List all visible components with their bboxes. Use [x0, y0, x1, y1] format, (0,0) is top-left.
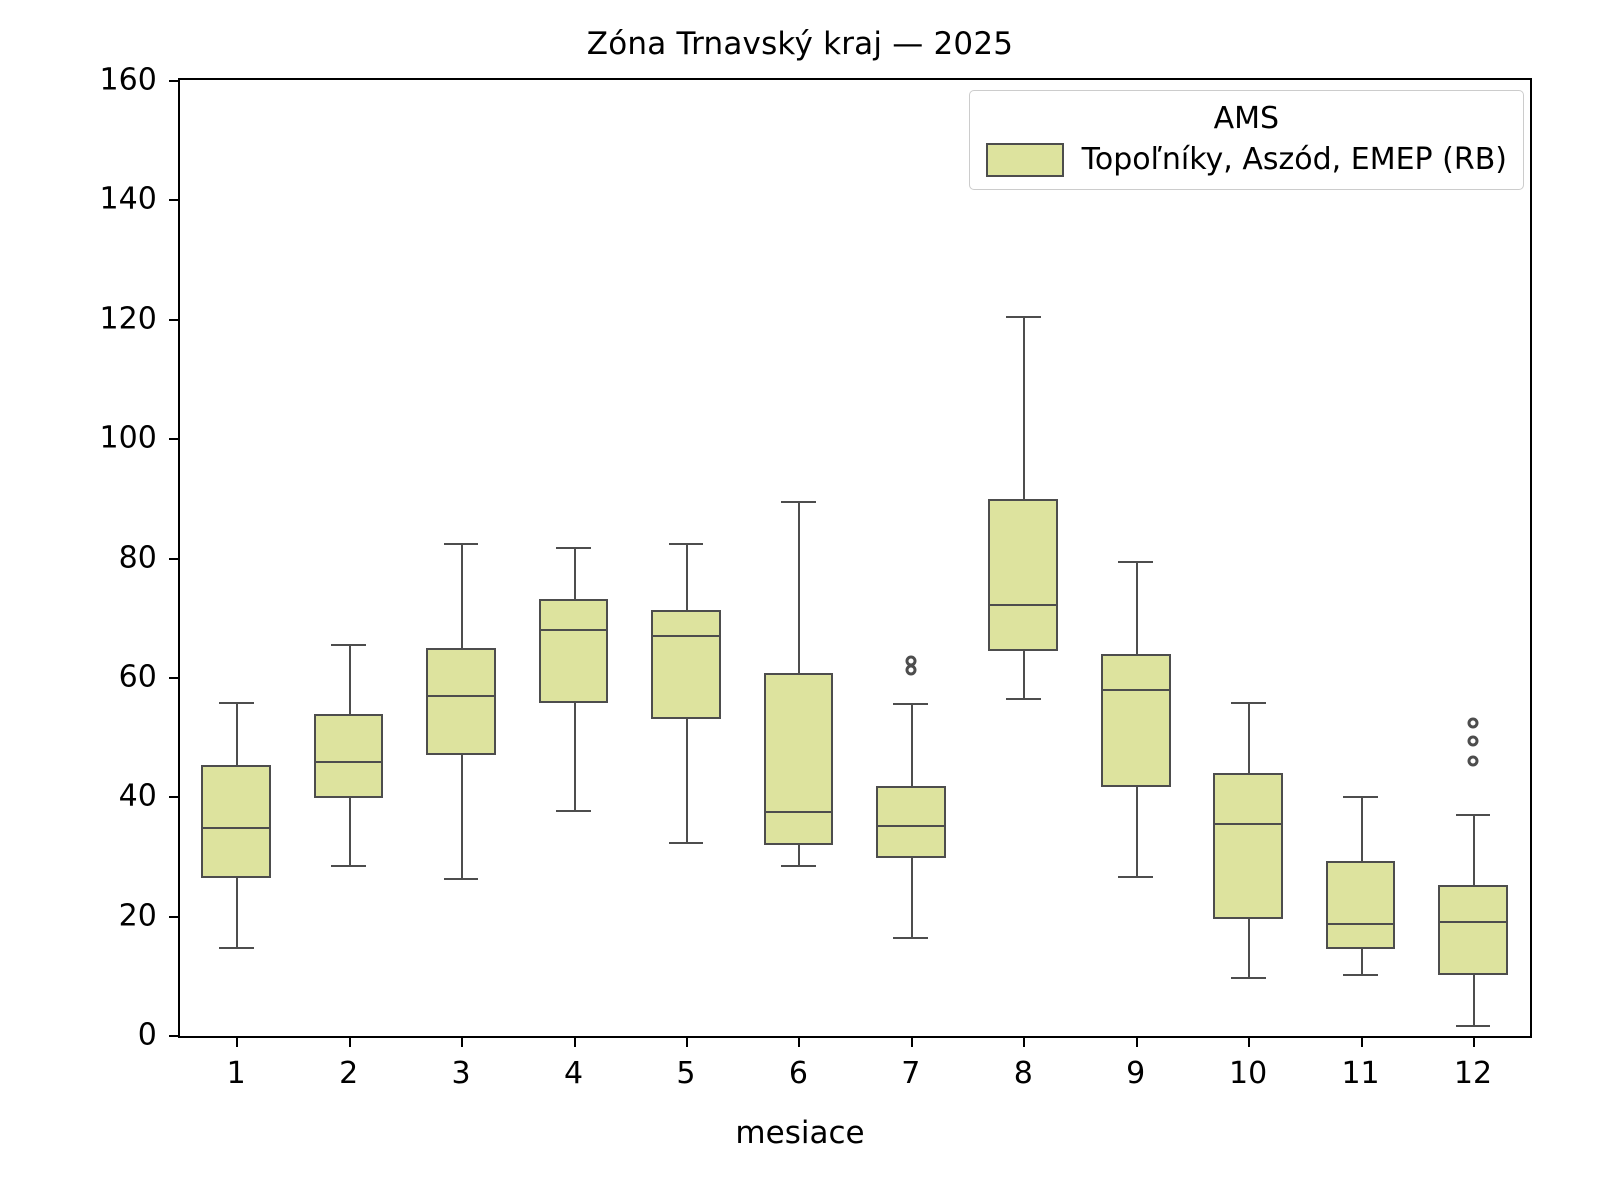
legend-title: AMS [986, 101, 1507, 136]
x-axis-tick-mark [1361, 1036, 1363, 1047]
y-axis-tick-mark [169, 916, 180, 918]
whisker-lower [1473, 975, 1475, 1025]
outlier-marker [1467, 736, 1478, 747]
x-axis-tick-mark [1136, 1036, 1138, 1047]
y-axis-tick-mark [169, 80, 180, 82]
x-axis-tick-label: 12 [1454, 1056, 1492, 1091]
y-axis-tick-label: 120 [100, 301, 157, 336]
x-axis-tick-label: 8 [1014, 1056, 1033, 1091]
box-iqr [1438, 885, 1508, 975]
y-axis-tick-mark [169, 677, 180, 679]
cap-upper [1456, 814, 1491, 816]
whisker-upper [1473, 814, 1475, 885]
y-axis-tick-mark [169, 1035, 180, 1037]
y-axis-tick-mark [169, 796, 180, 798]
x-axis-tick-mark [911, 1036, 913, 1047]
figure: Zóna Trnavský kraj — 2025 O3 (µg.m−3) me… [0, 0, 1600, 1200]
x-axis-tick-mark [1248, 1036, 1250, 1047]
x-axis-tick-label: 6 [789, 1056, 808, 1091]
y-axis-tick-label: 160 [100, 63, 157, 98]
x-axis-tick-label: 5 [676, 1056, 695, 1091]
y-axis-tick-label: 40 [119, 779, 157, 814]
x-axis-tick-mark [686, 1036, 688, 1047]
cap-lower [1456, 1025, 1491, 1027]
y-axis-tick-label: 140 [100, 182, 157, 217]
x-axis-tick-mark [349, 1036, 351, 1047]
x-axis-tick-mark [1023, 1036, 1025, 1047]
x-axis-tick-label: 7 [901, 1056, 920, 1091]
y-axis-tick-label: 80 [119, 540, 157, 575]
x-axis-tick-label: 1 [227, 1056, 246, 1091]
x-axis-label: mesiace [735, 1115, 864, 1151]
legend: AMS Topoľníky, Aszód, EMEP (RB) [969, 90, 1524, 190]
x-axis-tick-label: 4 [564, 1056, 583, 1091]
legend-entry: Topoľníky, Aszód, EMEP (RB) [986, 142, 1507, 177]
y-axis-tick-label: 20 [119, 898, 157, 933]
boxplot-12[interactable] [180, 80, 1529, 1036]
legend-swatch [986, 143, 1064, 177]
page-title: Zóna Trnavský kraj — 2025 [0, 26, 1600, 62]
x-axis-tick-mark [236, 1036, 238, 1047]
x-axis-tick-mark [574, 1036, 576, 1047]
plot-inner: 020406080100120140160123456789101112 [180, 80, 1530, 1036]
outlier-marker [1467, 717, 1478, 728]
y-axis-tick-label: 60 [119, 660, 157, 695]
legend-entry-label: Topoľníky, Aszód, EMEP (RB) [1082, 142, 1507, 177]
y-axis-tick-label: 100 [100, 421, 157, 456]
x-axis-tick-label: 11 [1341, 1056, 1379, 1091]
y-axis-tick-mark [169, 199, 180, 201]
median-line [1438, 921, 1508, 923]
x-axis-tick-mark [461, 1036, 463, 1047]
x-axis-tick-label: 2 [339, 1056, 358, 1091]
x-axis-tick-label: 10 [1229, 1056, 1267, 1091]
y-axis-tick-mark [169, 558, 180, 560]
outlier-marker [1467, 755, 1478, 766]
y-axis-tick-mark [169, 438, 180, 440]
y-axis-tick-mark [169, 319, 180, 321]
x-axis-tick-label: 9 [1126, 1056, 1145, 1091]
plot-area: 020406080100120140160123456789101112 AMS… [178, 78, 1532, 1038]
y-axis-tick-label: 0 [138, 1018, 157, 1053]
x-axis-tick-label: 3 [452, 1056, 471, 1091]
x-axis-tick-mark [1473, 1036, 1475, 1047]
x-axis-tick-mark [798, 1036, 800, 1047]
